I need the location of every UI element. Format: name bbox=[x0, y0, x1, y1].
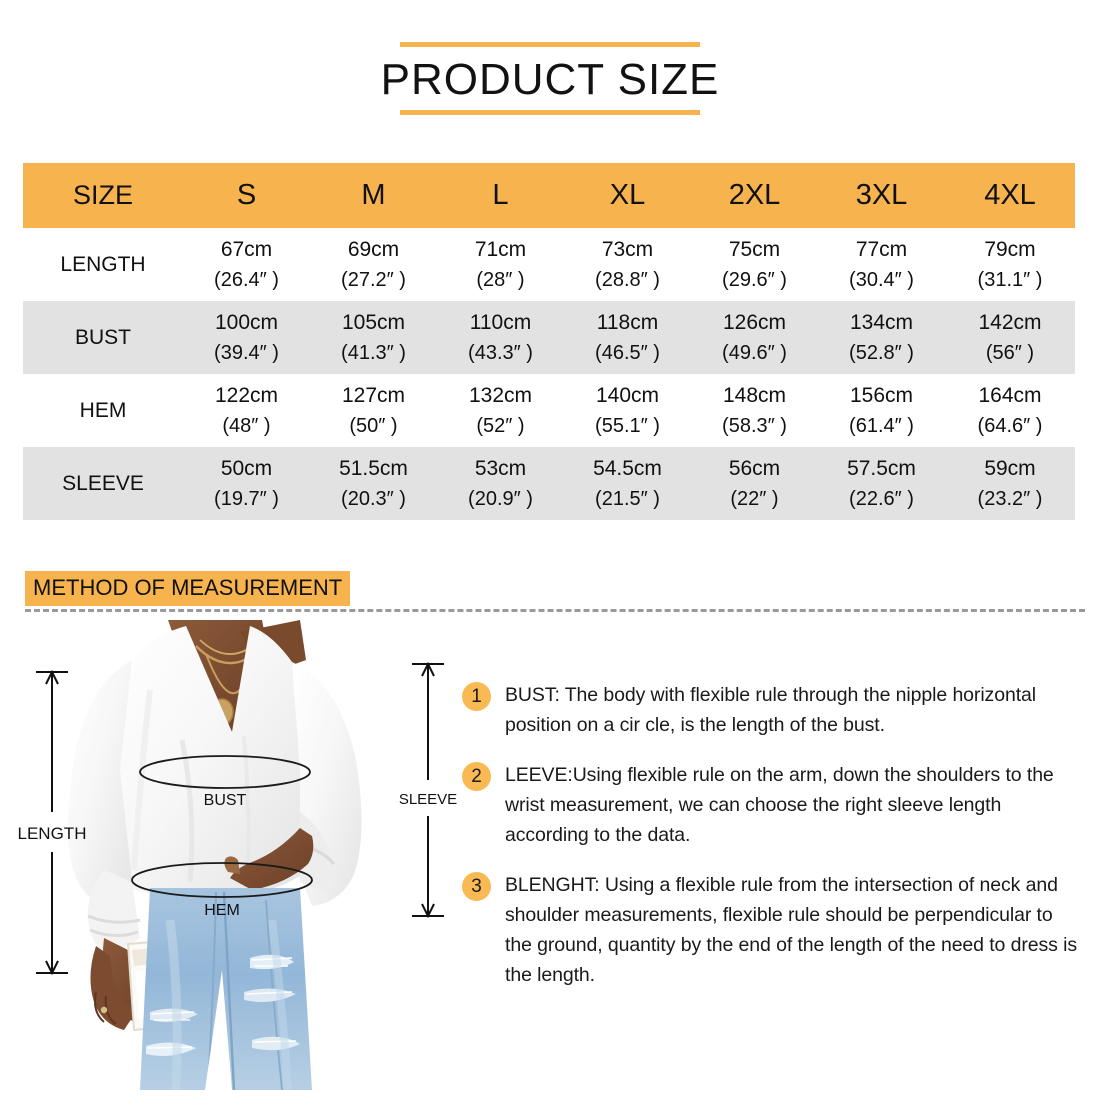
instruction-text-3: BLENGHT: Using a flexible rule from the … bbox=[505, 870, 1080, 990]
hem-label: HEM bbox=[204, 902, 240, 919]
cell-sleeve-s: 50cm(19.7″ ) bbox=[183, 447, 310, 520]
value-inch: (28″ ) bbox=[437, 265, 564, 295]
model-photo bbox=[68, 620, 362, 1090]
value-inch: (41.3″ ) bbox=[310, 338, 437, 368]
value-cm: 105cm bbox=[310, 308, 437, 338]
value-cm: 79cm bbox=[945, 235, 1075, 265]
value-inch: (61.4″ ) bbox=[818, 411, 945, 441]
value-inch: (50″ ) bbox=[310, 411, 437, 441]
value-cm: 140cm bbox=[564, 381, 691, 411]
list-item: 1 BUST: The body with flexible rule thro… bbox=[462, 680, 1080, 740]
value-cm: 134cm bbox=[818, 308, 945, 338]
length-label: LENGTH bbox=[18, 824, 87, 843]
cell-hem-xl: 140cm(55.1″ ) bbox=[564, 374, 691, 447]
value-inch: (58.3″ ) bbox=[691, 411, 818, 441]
page-title: PRODUCT SIZE bbox=[381, 53, 720, 107]
value-cm: 53cm bbox=[437, 454, 564, 484]
value-cm: 77cm bbox=[818, 235, 945, 265]
size-table-body: LENGTH 67cm(26.4″ ) 69cm(27.2″ ) 71cm(28… bbox=[23, 228, 1075, 520]
cell-length-2xl: 75cm(29.6″ ) bbox=[691, 228, 818, 301]
column-header-size: SIZE bbox=[23, 163, 183, 228]
value-inch: (56″ ) bbox=[945, 338, 1075, 368]
table-header-row: SIZE S M L XL 2XL 3XL 4XL bbox=[23, 163, 1075, 228]
value-inch: (48″ ) bbox=[183, 411, 310, 441]
table-row-length: LENGTH 67cm(26.4″ ) 69cm(27.2″ ) 71cm(28… bbox=[23, 228, 1075, 301]
table-row-sleeve: SLEEVE 50cm(19.7″ ) 51.5cm(20.3″ ) 53cm(… bbox=[23, 447, 1075, 520]
cell-sleeve-2xl: 56cm(22″ ) bbox=[691, 447, 818, 520]
column-header-l: L bbox=[437, 163, 564, 228]
page-title-block: PRODUCT SIZE bbox=[0, 42, 1100, 115]
cell-sleeve-l: 53cm(20.9″ ) bbox=[437, 447, 564, 520]
cell-hem-2xl: 148cm(58.3″ ) bbox=[691, 374, 818, 447]
cell-hem-4xl: 164cm(64.6″ ) bbox=[945, 374, 1075, 447]
cell-bust-l: 110cm(43.3″ ) bbox=[437, 301, 564, 374]
value-cm: 69cm bbox=[310, 235, 437, 265]
value-inch: (23.2″ ) bbox=[945, 484, 1075, 514]
value-cm: 57.5cm bbox=[818, 454, 945, 484]
bust-label: BUST bbox=[204, 792, 247, 809]
value-inch: (28.8″ ) bbox=[564, 265, 691, 295]
cell-length-4xl: 79cm(31.1″ ) bbox=[945, 228, 1075, 301]
table-row-bust: BUST 100cm(39.4″ ) 105cm(41.3″ ) 110cm(4… bbox=[23, 301, 1075, 374]
value-cm: 132cm bbox=[437, 381, 564, 411]
length-measure-arrow bbox=[36, 672, 68, 973]
list-item: 3 BLENGHT: Using a flexible rule from th… bbox=[462, 870, 1080, 990]
column-header-m: M bbox=[310, 163, 437, 228]
cell-sleeve-m: 51.5cm(20.3″ ) bbox=[310, 447, 437, 520]
cell-length-m: 69cm(27.2″ ) bbox=[310, 228, 437, 301]
cell-hem-l: 132cm(52″ ) bbox=[437, 374, 564, 447]
value-inch: (22″ ) bbox=[691, 484, 818, 514]
title-rule-bottom bbox=[400, 110, 700, 115]
value-inch: (20.3″ ) bbox=[310, 484, 437, 514]
value-cm: 75cm bbox=[691, 235, 818, 265]
value-inch: (52.8″ ) bbox=[818, 338, 945, 368]
table-row-hem: HEM 122cm(48″ ) 127cm(50″ ) 132cm(52″ ) … bbox=[23, 374, 1075, 447]
value-cm: 156cm bbox=[818, 381, 945, 411]
cell-hem-3xl: 156cm(61.4″ ) bbox=[818, 374, 945, 447]
cell-bust-s: 100cm(39.4″ ) bbox=[183, 301, 310, 374]
size-table: SIZE S M L XL 2XL 3XL 4XL LENGTH 67cm(26… bbox=[23, 163, 1075, 520]
cell-bust-m: 105cm(41.3″ ) bbox=[310, 301, 437, 374]
sleeve-label: SLEEVE bbox=[399, 791, 457, 808]
value-inch: (27.2″ ) bbox=[310, 265, 437, 295]
value-cm: 126cm bbox=[691, 308, 818, 338]
value-inch: (21.5″ ) bbox=[564, 484, 691, 514]
value-cm: 54.5cm bbox=[564, 454, 691, 484]
value-cm: 73cm bbox=[564, 235, 691, 265]
sleeve-measure-arrow bbox=[412, 664, 444, 916]
row-label-sleeve: SLEEVE bbox=[23, 447, 183, 520]
value-inch: (49.6″ ) bbox=[691, 338, 818, 368]
cell-bust-4xl: 142cm(56″ ) bbox=[945, 301, 1075, 374]
value-inch: (52″ ) bbox=[437, 411, 564, 441]
value-inch: (31.1″ ) bbox=[945, 265, 1075, 295]
value-inch: (26.4″ ) bbox=[183, 265, 310, 295]
value-inch: (46.5″ ) bbox=[564, 338, 691, 368]
value-cm: 100cm bbox=[183, 308, 310, 338]
value-cm: 122cm bbox=[183, 381, 310, 411]
value-cm: 71cm bbox=[437, 235, 564, 265]
value-cm: 142cm bbox=[945, 308, 1075, 338]
section-divider bbox=[25, 609, 1085, 612]
column-header-3xl: 3XL bbox=[818, 163, 945, 228]
cell-bust-3xl: 134cm(52.8″ ) bbox=[818, 301, 945, 374]
column-header-s: S bbox=[183, 163, 310, 228]
value-inch: (39.4″ ) bbox=[183, 338, 310, 368]
value-cm: 118cm bbox=[564, 308, 691, 338]
cell-length-xl: 73cm(28.8″ ) bbox=[564, 228, 691, 301]
value-inch: (22.6″ ) bbox=[818, 484, 945, 514]
size-chart-page: PRODUCT SIZE SIZE S M L XL 2XL 3XL 4XL L… bbox=[0, 0, 1100, 1100]
value-inch: (43.3″ ) bbox=[437, 338, 564, 368]
cell-bust-xl: 118cm(46.5″ ) bbox=[564, 301, 691, 374]
cell-sleeve-4xl: 59cm(23.2″ ) bbox=[945, 447, 1075, 520]
cell-sleeve-xl: 54.5cm(21.5″ ) bbox=[564, 447, 691, 520]
step-badge-2: 2 bbox=[462, 762, 491, 791]
row-label-length: LENGTH bbox=[23, 228, 183, 301]
value-inch: (20.9″ ) bbox=[437, 484, 564, 514]
method-of-measurement-heading: METHOD OF MEASUREMENT bbox=[25, 571, 350, 606]
cell-hem-m: 127cm(50″ ) bbox=[310, 374, 437, 447]
title-rule-top bbox=[400, 42, 700, 47]
cell-bust-2xl: 126cm(49.6″ ) bbox=[691, 301, 818, 374]
step-badge-1: 1 bbox=[462, 682, 491, 711]
instruction-list: 1 BUST: The body with flexible rule thro… bbox=[462, 680, 1080, 1010]
value-cm: 56cm bbox=[691, 454, 818, 484]
instruction-text-2: LEEVE:Using flexible rule on the arm, do… bbox=[505, 760, 1080, 850]
cell-length-3xl: 77cm(30.4″ ) bbox=[818, 228, 945, 301]
column-header-4xl: 4XL bbox=[945, 163, 1075, 228]
value-inch: (29.6″ ) bbox=[691, 265, 818, 295]
value-cm: 67cm bbox=[183, 235, 310, 265]
cell-hem-s: 122cm(48″ ) bbox=[183, 374, 310, 447]
value-inch: (64.6″ ) bbox=[945, 411, 1075, 441]
value-cm: 50cm bbox=[183, 454, 310, 484]
value-cm: 148cm bbox=[691, 381, 818, 411]
value-inch: (19.7″ ) bbox=[183, 484, 310, 514]
cell-length-s: 67cm(26.4″ ) bbox=[183, 228, 310, 301]
instruction-text-1: BUST: The body with flexible rule throug… bbox=[505, 680, 1080, 740]
row-label-hem: HEM bbox=[23, 374, 183, 447]
cell-sleeve-3xl: 57.5cm(22.6″ ) bbox=[818, 447, 945, 520]
value-cm: 51.5cm bbox=[310, 454, 437, 484]
step-badge-3: 3 bbox=[462, 872, 491, 901]
row-label-bust: BUST bbox=[23, 301, 183, 374]
list-item: 2 LEEVE:Using flexible rule on the arm, … bbox=[462, 760, 1080, 850]
value-cm: 59cm bbox=[945, 454, 1075, 484]
value-cm: 110cm bbox=[437, 308, 564, 338]
value-inch: (55.1″ ) bbox=[564, 411, 691, 441]
value-cm: 164cm bbox=[945, 381, 1075, 411]
value-cm: 127cm bbox=[310, 381, 437, 411]
column-header-2xl: 2XL bbox=[691, 163, 818, 228]
value-inch: (30.4″ ) bbox=[818, 265, 945, 295]
size-table-header: SIZE S M L XL 2XL 3XL 4XL bbox=[23, 163, 1075, 228]
measurement-diagram: BUST HEM LENGTH bbox=[0, 620, 460, 1090]
cell-length-l: 71cm(28″ ) bbox=[437, 228, 564, 301]
column-header-xl: XL bbox=[564, 163, 691, 228]
